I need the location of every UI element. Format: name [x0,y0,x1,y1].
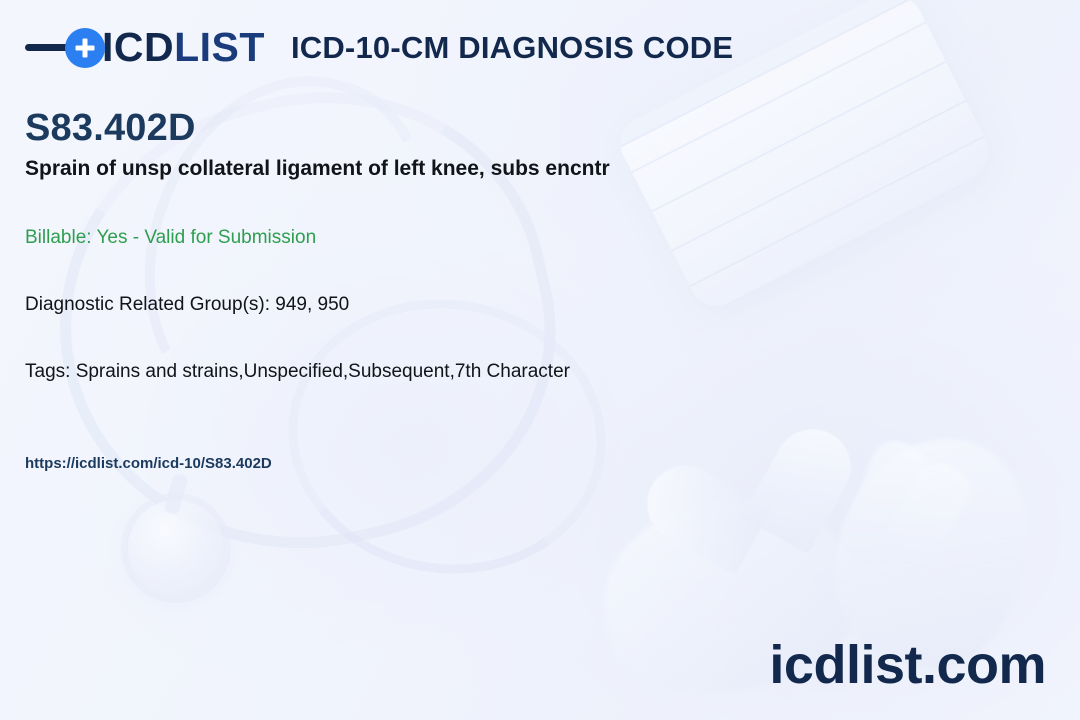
icdlist-logo[interactable]: ICDLIST [25,27,265,68]
stethoscope-chestpiece-icon [128,500,224,596]
icd-code-card: ICDLIST ICD-10-CM DIAGNOSIS CODE S83.402… [0,0,1080,720]
plus-circle-icon [65,28,105,68]
diagnosis-code: S83.402D [25,108,1025,150]
site-brand: icdlist.com [769,638,1046,692]
tags-list: Tags: Sprains and strains,Unspecified,Su… [25,360,1025,384]
billable-status: Billable: Yes - Valid for Submission [25,226,1025,250]
logo-list-text: LIST [174,24,265,70]
logo-wordmark: ICDLIST [102,27,265,68]
header: ICDLIST ICD-10-CM DIAGNOSIS CODE [25,27,733,68]
logo-icd-text: ICD [102,24,174,70]
code-details: S83.402D Sprain of unsp collateral ligam… [25,108,1025,474]
diagnosis-description: Sprain of unsp collateral ligament of le… [25,156,1025,182]
diagnostic-related-groups: Diagnostic Related Group(s): 949, 950 [25,293,1025,317]
dash-icon [25,44,69,51]
page-title: ICD-10-CM DIAGNOSIS CODE [291,32,733,63]
source-url[interactable]: https://icdlist.com/icd-10/S83.402D [25,455,1025,474]
